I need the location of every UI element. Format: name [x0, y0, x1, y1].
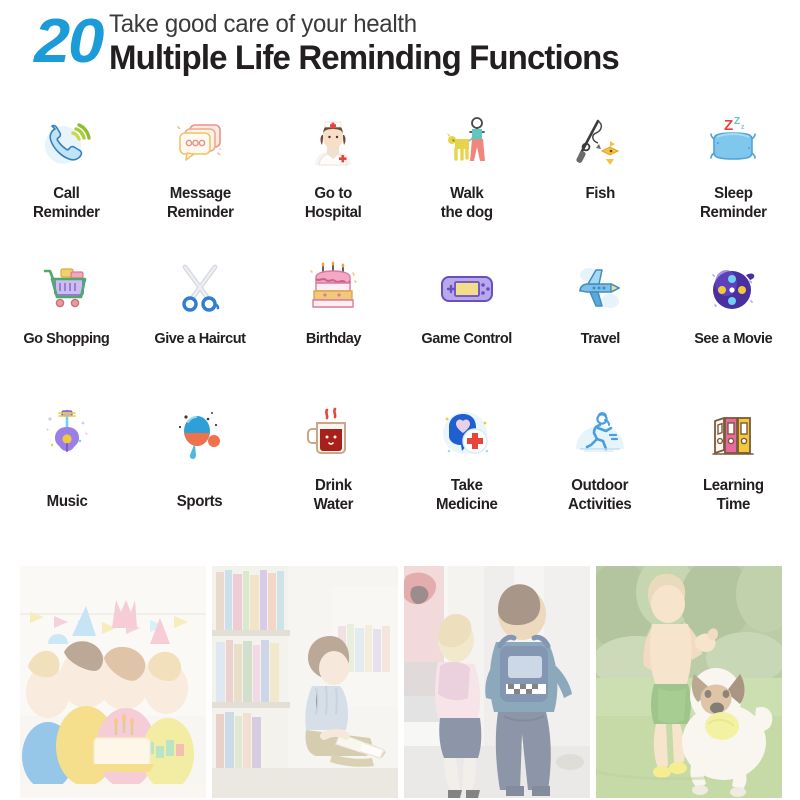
photo-boy-with-dog [596, 566, 782, 798]
function-label: Game Control [421, 330, 511, 349]
chat-bubbles-icon [169, 112, 231, 174]
function-label: Go Shopping [24, 330, 110, 349]
ping-pong-icon [169, 404, 231, 466]
infographic-page: 20 Take good care of your health Multipl… [0, 0, 800, 800]
function-label: Travel [580, 330, 619, 349]
function-item-music[interactable]: Music [0, 396, 133, 546]
header: 20 Take good care of your health Multipl… [0, 6, 800, 98]
function-label: Call Reminder [33, 184, 100, 223]
dog-walker-icon [436, 112, 498, 174]
fishing-rod-icon [569, 112, 631, 174]
function-grid: Call Reminder Message Reminder [0, 104, 800, 546]
medicine-cross-icon [436, 404, 498, 466]
function-row-3: Music S [0, 396, 800, 546]
function-item-fish[interactable]: Fish [533, 104, 666, 250]
function-item-walk-the-dog[interactable]: Walk the dog [400, 104, 533, 250]
binders-icon [702, 404, 764, 466]
hot-drink-mug-icon [302, 404, 364, 466]
photo-birthday-party [20, 566, 206, 798]
function-row-2: Go Shopping Give a Haircut [0, 250, 800, 396]
function-item-learning-time[interactable]: Learning Time [667, 396, 800, 546]
function-item-go-to-hospital[interactable]: Go to Hospital [267, 104, 400, 250]
nurse-icon [302, 112, 364, 174]
function-item-outdoor-activities[interactable]: Outdoor Activities [533, 396, 666, 546]
function-item-sleep-reminder[interactable]: Z Z z Sleep Reminder [667, 104, 800, 250]
handheld-console-icon [436, 258, 498, 320]
function-label: Give a Haircut [154, 330, 245, 349]
scissors-icon [169, 258, 231, 320]
function-item-sports[interactable]: Sports [133, 396, 266, 546]
function-label: Walk the dog [441, 184, 493, 223]
function-label: Drink Water [314, 476, 354, 515]
photo-boy-reading [212, 566, 398, 798]
running-person-icon [569, 404, 631, 466]
function-item-go-shopping[interactable]: Go Shopping [0, 250, 133, 396]
function-label: Message Reminder [167, 184, 234, 223]
function-row-1: Call Reminder Message Reminder [0, 104, 800, 250]
shopping-cart-icon [36, 258, 98, 320]
function-item-drink-water[interactable]: Drink Water [267, 396, 400, 546]
function-label: Fish [585, 184, 615, 203]
function-label: Birthday [306, 330, 361, 349]
function-item-message-reminder[interactable]: Message Reminder [133, 104, 266, 250]
svg-text:Z: Z [734, 116, 740, 127]
photo-kids-backpacks [404, 566, 590, 798]
function-item-game-control[interactable]: Game Control [400, 250, 533, 396]
header-text-block: Take good care of your health Multiple L… [109, 6, 635, 77]
feature-count-number: 20 [34, 12, 102, 73]
function-label: See a Movie [694, 330, 772, 349]
function-label: Outdoor Activities [568, 476, 631, 515]
function-item-travel[interactable]: Travel [533, 250, 666, 396]
function-label: Music [46, 492, 87, 511]
function-label: Learning Time [703, 476, 764, 515]
birthday-cake-icon [302, 258, 364, 320]
function-item-call-reminder[interactable]: Call Reminder [0, 104, 133, 250]
airplane-icon [569, 258, 631, 320]
function-item-give-a-haircut[interactable]: Give a Haircut [133, 250, 266, 396]
pillow-sleep-icon: Z Z z [702, 112, 764, 174]
svg-text:z: z [741, 124, 745, 131]
function-item-see-a-movie[interactable]: See a Movie [667, 250, 800, 396]
function-label: Sports [177, 492, 223, 511]
phone-call-icon [36, 112, 98, 174]
function-item-birthday[interactable]: Birthday [267, 250, 400, 396]
function-item-take-medicine[interactable]: Take Medicine [400, 396, 533, 546]
guitar-icon [36, 404, 98, 466]
function-label: Take Medicine [436, 476, 498, 515]
function-label: Sleep Reminder [700, 184, 767, 223]
header-subtitle: Take good care of your health [109, 10, 614, 38]
header-headline: Multiple Life Reminding Functions [109, 39, 619, 77]
svg-text:Z: Z [724, 117, 733, 134]
film-reel-icon [702, 258, 764, 320]
photo-strip [20, 566, 782, 798]
function-label: Go to Hospital [305, 184, 362, 223]
